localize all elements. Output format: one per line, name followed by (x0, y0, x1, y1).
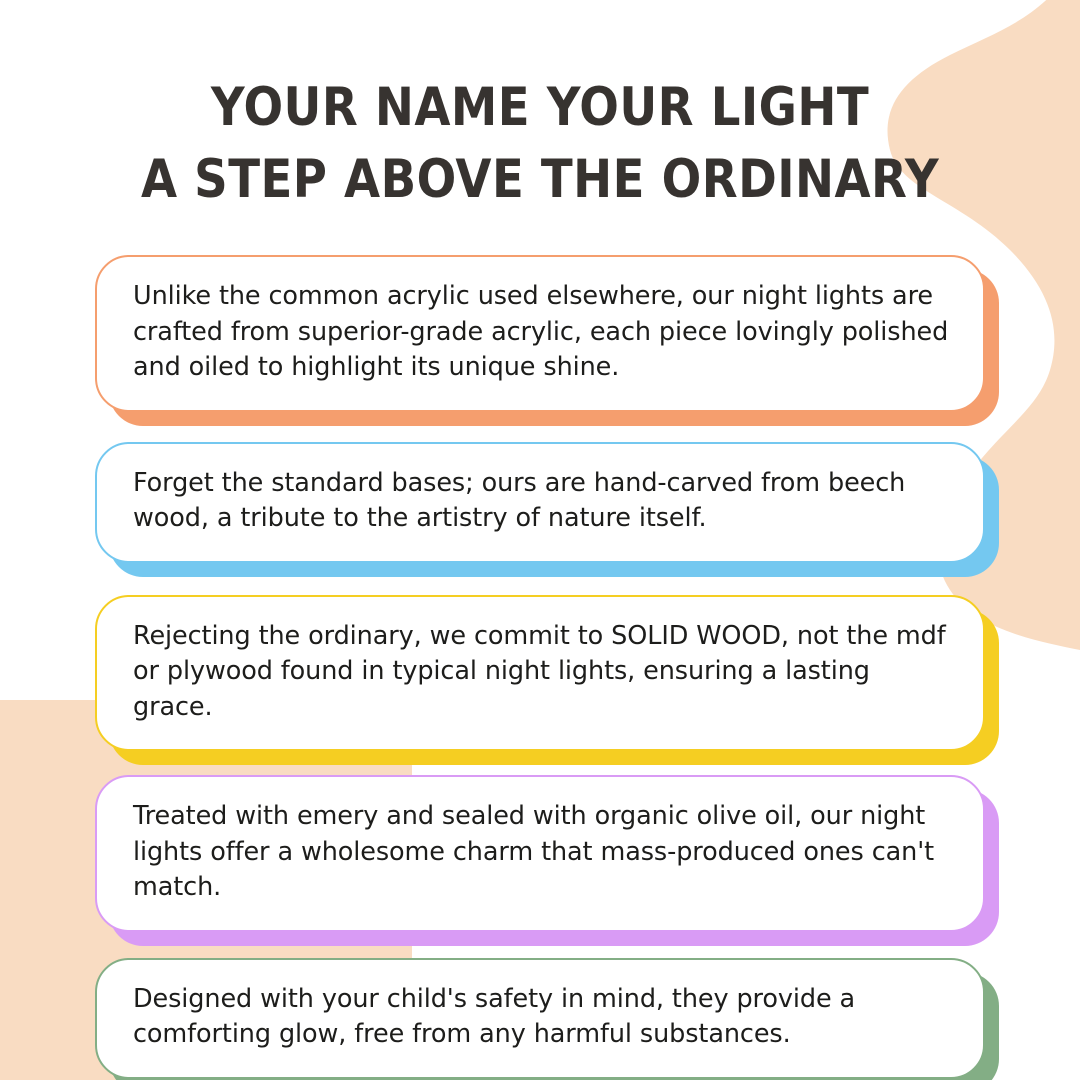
card-body-olive-oil: Treated with emery and sealed with organ… (95, 775, 985, 932)
poster-canvas: YOUR NAME YOUR LIGHT A STEP ABOVE THE OR… (0, 0, 1080, 1080)
card-text-olive-oil: Treated with emery and sealed with organ… (133, 799, 953, 906)
card-body-acrylic: Unlike the common acrylic used elsewhere… (95, 255, 985, 412)
feature-card-safety: Designed with your child's safety in min… (95, 958, 985, 1079)
card-text-acrylic: Unlike the common acrylic used elsewhere… (133, 279, 953, 386)
feature-card-beech-wood: Forget the standard bases; ours are hand… (95, 442, 985, 563)
card-body-beech-wood: Forget the standard bases; ours are hand… (95, 442, 985, 563)
feature-card-acrylic: Unlike the common acrylic used elsewhere… (95, 255, 985, 412)
title-line-2: A STEP ABOVE THE ORDINARY (65, 144, 1015, 216)
title-line-1: YOUR NAME YOUR LIGHT (65, 72, 1015, 144)
feature-card-solid-wood: Rejecting the ordinary, we commit to SOL… (95, 595, 985, 752)
card-body-solid-wood: Rejecting the ordinary, we commit to SOL… (95, 595, 985, 752)
card-text-safety: Designed with your child's safety in min… (133, 982, 953, 1053)
page-title: YOUR NAME YOUR LIGHT A STEP ABOVE THE OR… (0, 72, 1080, 216)
card-text-beech-wood: Forget the standard bases; ours are hand… (133, 466, 953, 537)
card-body-safety: Designed with your child's safety in min… (95, 958, 985, 1079)
card-text-solid-wood: Rejecting the ordinary, we commit to SOL… (133, 619, 953, 726)
feature-card-olive-oil: Treated with emery and sealed with organ… (95, 775, 985, 932)
feature-card-list: Unlike the common acrylic used elsewhere… (0, 255, 1080, 1079)
